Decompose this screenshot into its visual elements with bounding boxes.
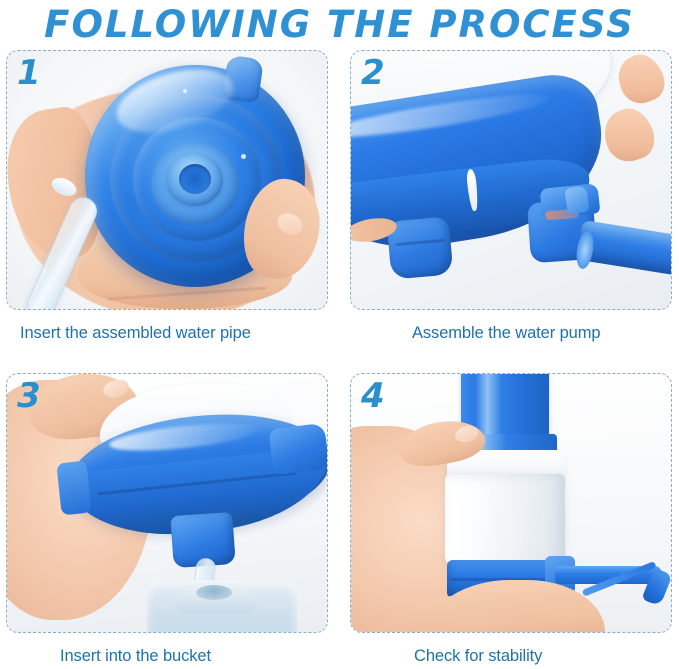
page-title: FOLLOWING THE PROCESS xyxy=(0,0,679,47)
step-caption-3: Insert into the bucket xyxy=(6,646,328,666)
step-caption-1: Insert the assembled water pipe xyxy=(6,323,328,343)
step-card-3: 3 Insert into the bucket xyxy=(6,373,328,666)
water-bottle-opening xyxy=(196,585,232,600)
pump-body-highlight xyxy=(455,482,475,560)
step-card-2: 2 Assemble the water pump xyxy=(350,50,672,343)
pump-tab-left xyxy=(56,461,91,516)
step-photo-1 xyxy=(7,51,327,309)
step-photo-frame-3: 3 xyxy=(6,373,328,633)
step-photo-frame-1: 1 xyxy=(6,50,328,310)
step-card-1: 1 Insert the assembled water pipe xyxy=(6,50,328,343)
cap-speck-b xyxy=(183,89,187,93)
step-photo-4 xyxy=(351,374,671,632)
pump-tab-right xyxy=(268,423,327,475)
pump-spout-lip xyxy=(564,186,589,215)
cap-speck-a xyxy=(241,154,246,159)
pump-cap-nozzle-hole xyxy=(179,164,211,194)
step-number-3: 3 xyxy=(17,376,41,416)
step-number-2: 2 xyxy=(361,53,385,93)
step-caption-4: Check for stability xyxy=(350,646,672,666)
step-photo-frame-4: 4 xyxy=(350,373,672,633)
steps-grid: 1 Insert the assembled water pipe xyxy=(0,50,679,650)
step-number-4: 4 xyxy=(361,376,385,416)
step-photo-2 xyxy=(351,51,671,309)
step-card-4: 4 Check for stability xyxy=(350,373,672,666)
step-photo-frame-2: 2 xyxy=(350,50,672,310)
step-number-1: 1 xyxy=(17,53,41,93)
step-photo-3 xyxy=(7,374,327,632)
step-caption-2: Assemble the water pump xyxy=(350,323,672,343)
